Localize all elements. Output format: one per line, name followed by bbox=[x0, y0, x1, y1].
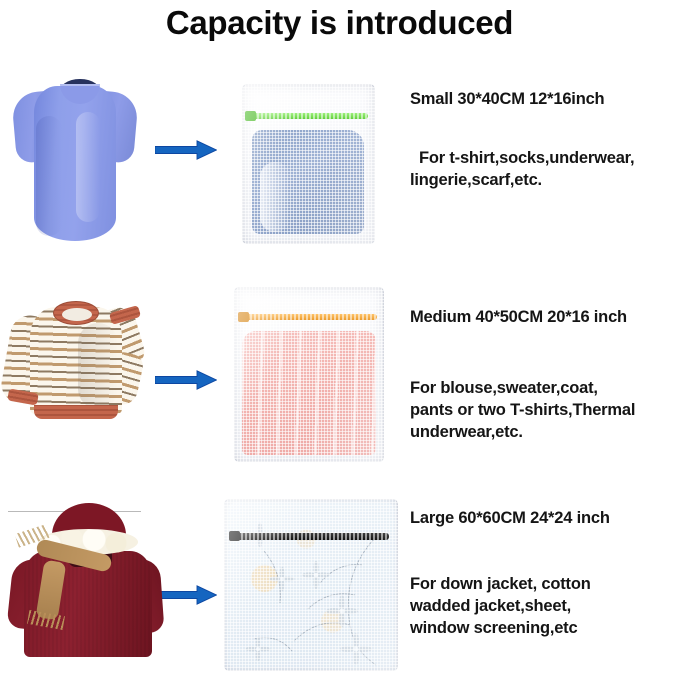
bag-sheen bbox=[234, 287, 384, 462]
description-medium: For blouse,sweater,coat, pants or two T-… bbox=[410, 377, 635, 443]
description-line: lingerie,scarf,etc. bbox=[410, 169, 634, 191]
description-small: For t-shirt,socks,underwear, lingerie,sc… bbox=[410, 147, 634, 191]
sweater-hem bbox=[34, 405, 118, 419]
sweater-collar bbox=[53, 301, 99, 325]
text-cell-large: Large 60*60CM 24*24 inch For down jacket… bbox=[404, 485, 679, 676]
bag-sheen bbox=[242, 84, 375, 244]
description-line: window screening,etc bbox=[410, 617, 591, 639]
t-shirt-highlight bbox=[76, 112, 100, 222]
bag-sheen bbox=[224, 499, 398, 671]
size-label-large: Large 60*60CM 24*24 inch bbox=[410, 509, 610, 528]
right-arrow-icon bbox=[155, 140, 217, 160]
garment-cell-medium bbox=[0, 265, 150, 487]
arrow-cell-medium bbox=[150, 265, 220, 487]
garment-cell-small bbox=[0, 62, 150, 267]
arrow-cell-small bbox=[150, 62, 220, 267]
description-line: pants or two T-shirts,Thermal bbox=[410, 399, 635, 421]
text-cell-small: Small 30*40CM 12*16inch For t-shirt,sock… bbox=[404, 62, 679, 267]
right-arrow-icon bbox=[155, 585, 217, 605]
bag-cell-medium bbox=[218, 265, 403, 487]
bag-cell-small bbox=[218, 62, 403, 267]
capacity-row-small: Small 30*40CM 12*16inch For t-shirt,sock… bbox=[0, 62, 679, 267]
text-cell-medium: Medium 40*50CM 20*16 inch For blouse,swe… bbox=[404, 265, 679, 487]
striped-sweater-image bbox=[6, 293, 156, 428]
description-line: For blouse,sweater,coat, bbox=[410, 377, 635, 399]
t-shirt-shadow bbox=[36, 116, 62, 236]
page-title: Capacity is introduced bbox=[0, 4, 679, 42]
capacity-row-large: Large 60*60CM 24*24 inch For down jacket… bbox=[0, 485, 679, 676]
small-mesh-laundry-bag-image bbox=[242, 84, 375, 244]
size-label-medium: Medium 40*50CM 20*16 inch bbox=[410, 308, 627, 327]
right-arrow-icon bbox=[155, 370, 217, 390]
description-line: For t-shirt,socks,underwear, bbox=[410, 147, 634, 169]
large-mesh-laundry-bag-image bbox=[224, 499, 398, 671]
capacity-row-medium: Medium 40*50CM 20*16 inch For blouse,swe… bbox=[0, 265, 679, 487]
bag-cell-large bbox=[218, 485, 403, 676]
garment-cell-large bbox=[0, 485, 150, 676]
red-hooded-down-jacket-image bbox=[10, 503, 170, 663]
blue-t-shirt-image bbox=[14, 76, 136, 241]
description-line: underwear,etc. bbox=[410, 421, 635, 443]
size-label-small: Small 30*40CM 12*16inch bbox=[410, 90, 604, 109]
medium-mesh-laundry-bag-image bbox=[234, 287, 384, 462]
description-line: For down jacket, cotton bbox=[410, 573, 591, 595]
description-line: wadded jacket,sheet, bbox=[410, 595, 591, 617]
sweater-shadow bbox=[78, 323, 118, 409]
description-large: For down jacket, cotton wadded jacket,sh… bbox=[410, 573, 591, 639]
